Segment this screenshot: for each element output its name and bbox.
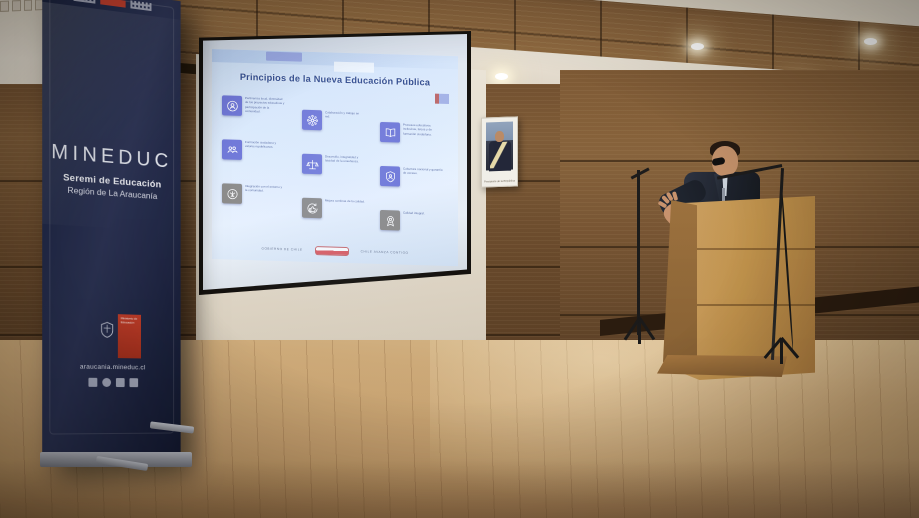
slide-white-tab: [334, 62, 374, 73]
principle-text: Colaboración y trabajo en red.: [325, 110, 365, 120]
youtube-icon: [129, 378, 138, 387]
conference-room-photo: Presidente de la República Principios de…: [0, 0, 919, 518]
ministry-label: Ministerio de Educación: [118, 314, 141, 328]
projection-screen: Principios de la Nueva Educación Pública…: [203, 34, 467, 290]
principle-text: Mejora continua de la calidad.: [325, 198, 365, 204]
principle-item: Desarrollo, integralidad y laicidad de l…: [302, 154, 365, 176]
thumbs-up-cycle-icon: [302, 198, 322, 219]
presidential-portrait: Presidente de la República: [481, 116, 518, 187]
people-group-icon: [222, 139, 242, 160]
presidential-sash: [490, 142, 510, 169]
floor-mic-stand: [637, 170, 640, 335]
portrait-image: [486, 122, 513, 171]
principle-item: Mejora continua de la calidad.: [302, 198, 365, 220]
principle-item: Procesos educativos inclusivos, laicos y…: [380, 122, 443, 144]
mineduc-rollup-banner: MINEDUC Seremi de Educación Región de La…: [42, 0, 180, 465]
downlight-3: [495, 73, 508, 80]
slide-footer: GOBIERNO DE CHILE CHILE AVANZA CONTIGO: [212, 239, 458, 262]
principle-text: Formación ciudadana y valores republican…: [245, 140, 285, 150]
slide-title: Principios de la Nueva Educación Pública: [212, 71, 458, 88]
speaker-lanyard: [722, 188, 725, 202]
scales-justice-icon: [302, 154, 322, 175]
outlet-3[interactable]: [24, 0, 33, 11]
principle-item: Calidad integral.: [380, 210, 425, 231]
downlight-2: [864, 38, 877, 45]
floor-mic-tripod: [622, 318, 656, 340]
principle-text: Cobertura nacional y garantía de acceso.: [403, 167, 443, 177]
shield-person-icon: [380, 166, 400, 187]
principles-grid: Pertinencia local, diversidad de los pro…: [222, 95, 450, 232]
portrait-caption: Presidente de la República: [482, 179, 517, 183]
presentation-slide: Principios de la Nueva Educación Pública…: [212, 49, 458, 266]
principle-item: Pertinencia local, diversidad de los pro…: [222, 95, 285, 117]
downlight-1: [691, 43, 704, 50]
principle-text: Integración con el entorno y la comunida…: [245, 184, 285, 194]
network-nodes-icon: [302, 110, 322, 131]
instagram-icon: [102, 378, 111, 387]
banner-social-icons: [42, 377, 180, 387]
person-circle-icon: [222, 95, 242, 116]
principle-item: Integración con el entorno y la comunida…: [222, 183, 285, 205]
portrait-head: [495, 131, 504, 142]
mic-tripod-legs: [756, 338, 806, 364]
chile-flag-logo: [315, 246, 349, 256]
principle-item: Colaboración y trabajo en red.: [302, 110, 365, 132]
outlet-1[interactable]: [0, 1, 9, 12]
integration-icon: [222, 183, 242, 204]
principle-item: Formación ciudadana y valores republican…: [222, 139, 285, 161]
footer-left-text: GOBIERNO DE CHILE: [262, 246, 303, 251]
award-medal-icon: [380, 210, 400, 231]
wall-power-outlets[interactable]: [0, 0, 44, 10]
principle-item: Cobertura nacional y garantía de acceso.: [380, 166, 443, 188]
principle-text: Pertinencia local, diversidad de los pro…: [245, 96, 285, 115]
open-book-icon: [380, 122, 400, 143]
slide-tab-highlight: [266, 52, 302, 62]
principle-text: Procesos educativos inclusivos, laicos y…: [403, 123, 443, 137]
principle-text: Calidad integral.: [403, 211, 425, 216]
principle-text: Desarrollo, integralidad y laicidad de l…: [325, 154, 365, 164]
facebook-icon: [88, 378, 97, 387]
outlet-2[interactable]: [12, 0, 21, 11]
ministry-red-block: Ministerio de Educación: [118, 314, 141, 358]
twitter-icon: [115, 378, 124, 387]
gobierno-crest-icon: [100, 322, 114, 338]
footer-right-text: CHILE AVANZA CONTIGO: [361, 249, 409, 254]
